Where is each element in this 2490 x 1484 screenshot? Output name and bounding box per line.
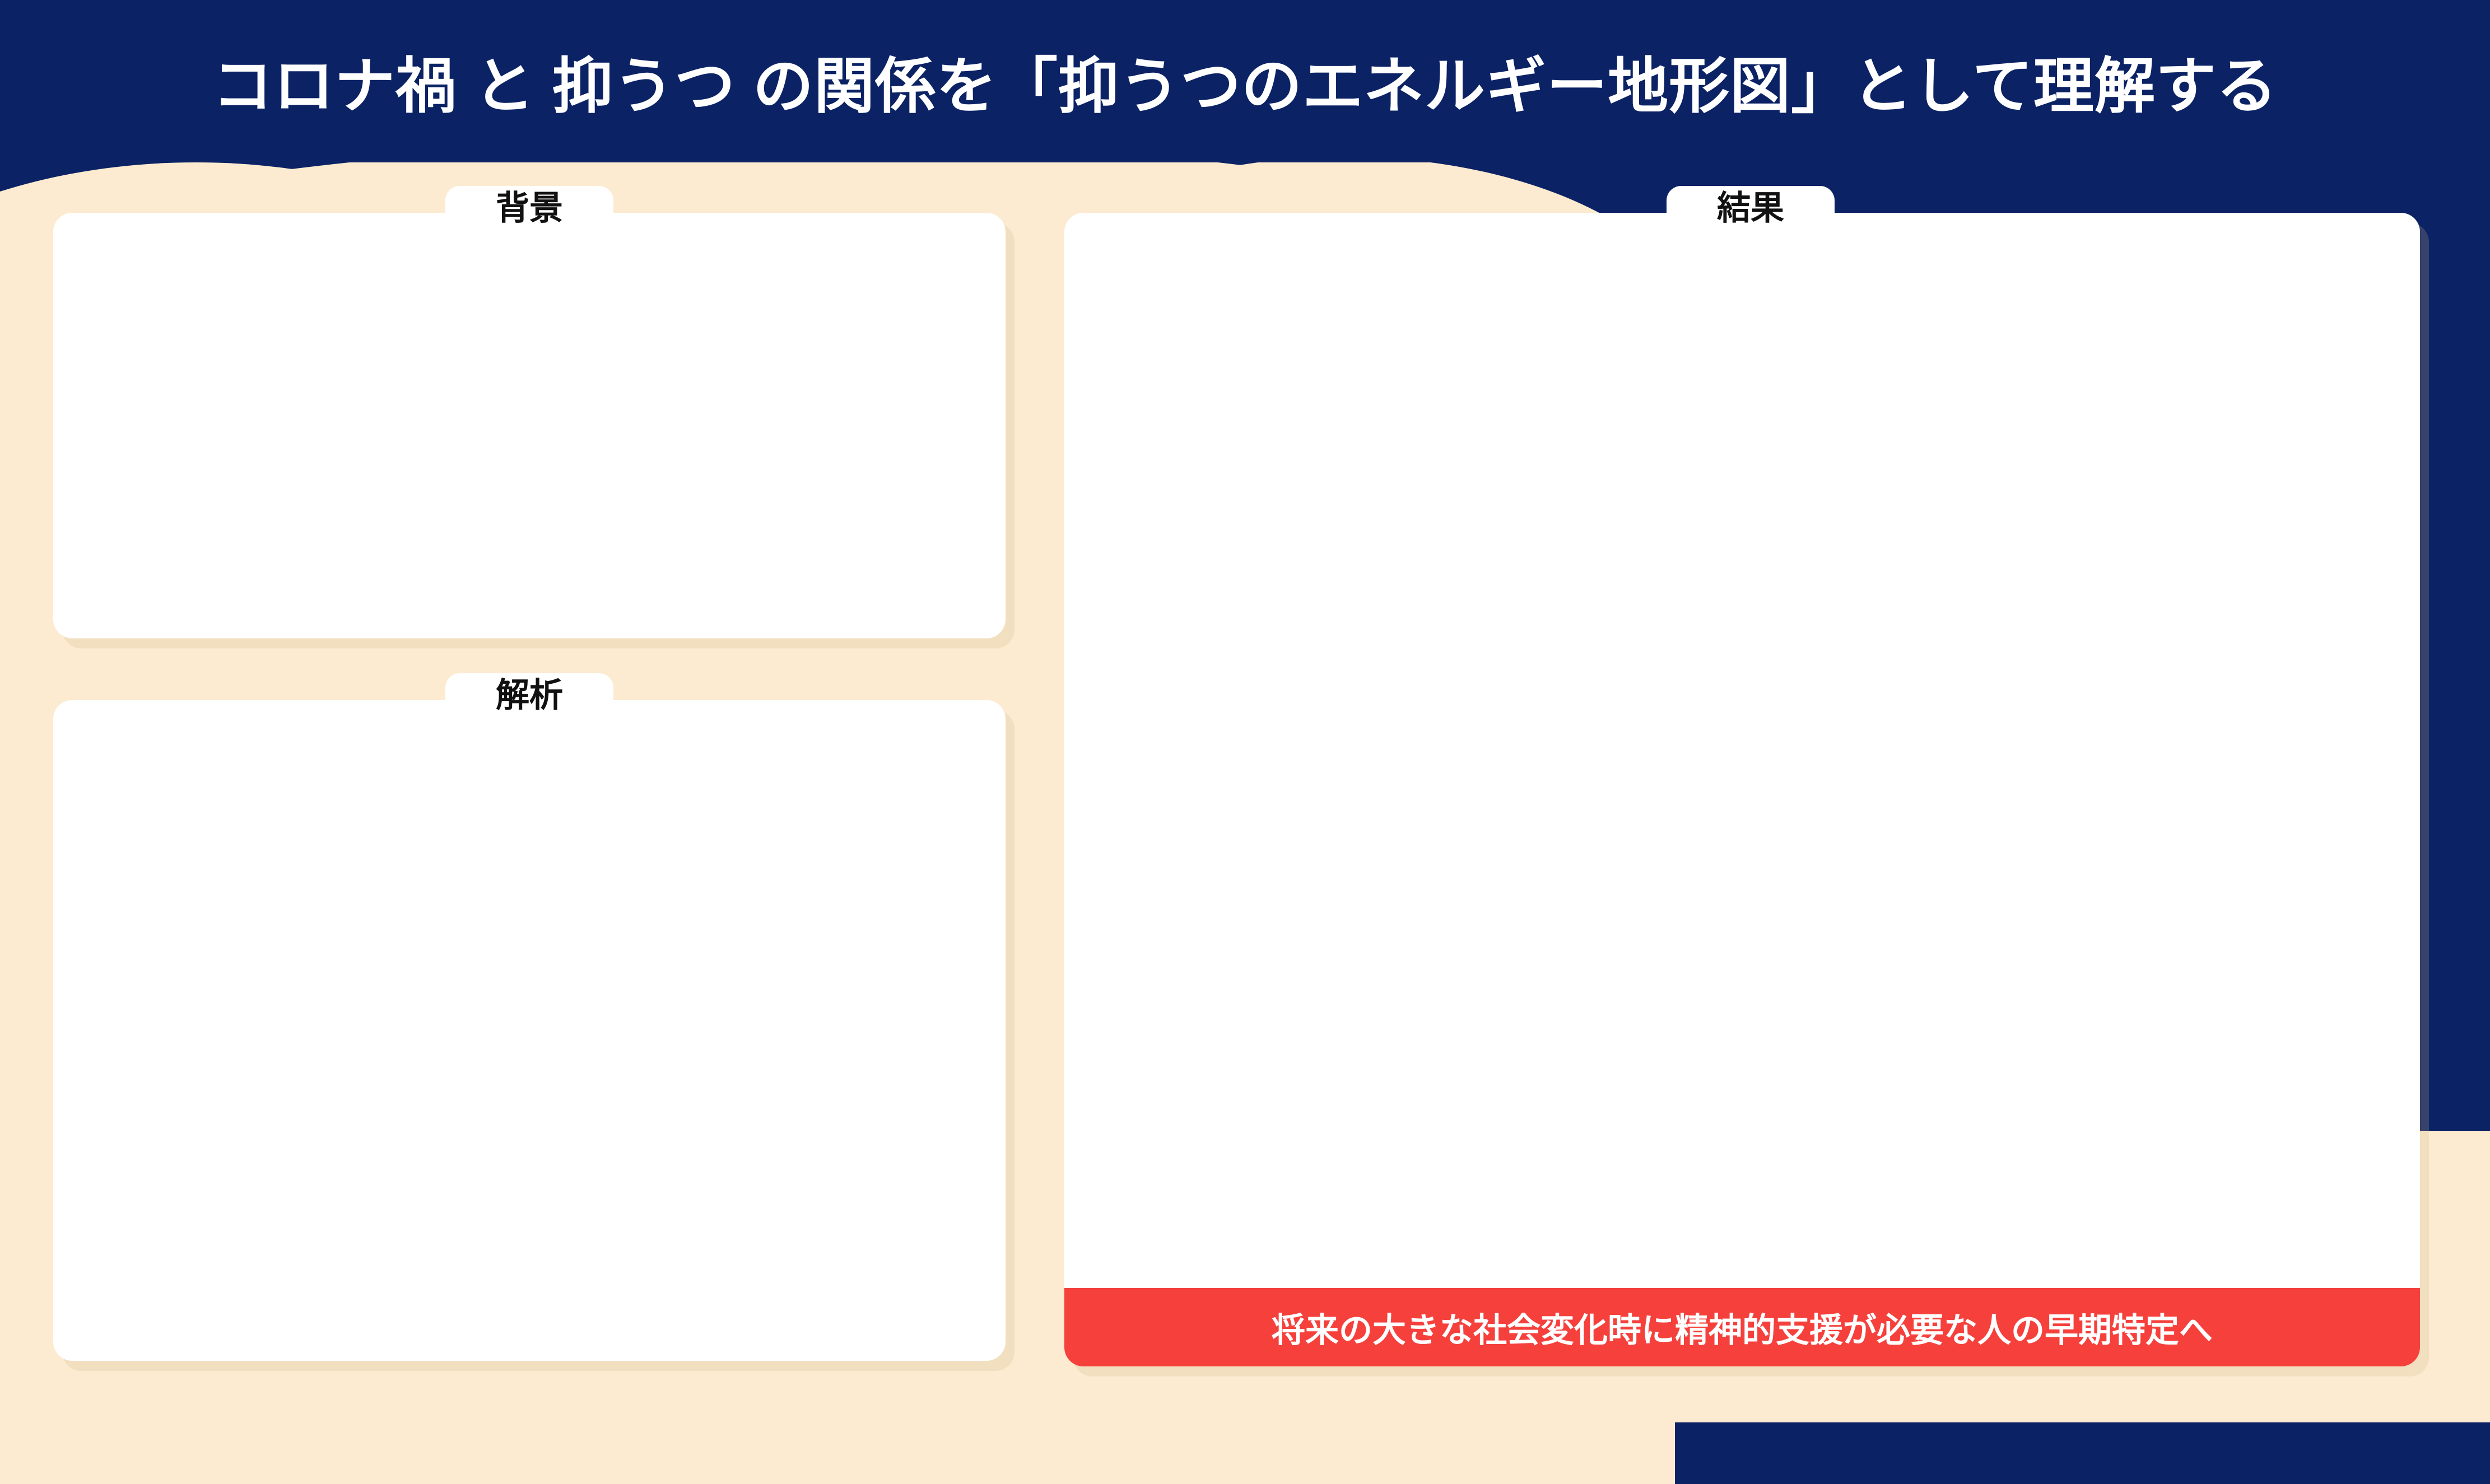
tab-result-label: 結果 [1717,181,1784,230]
tab-analysis[interactable]: 解析 [445,673,613,716]
bottom-banner: 将来の大きな社会変化時に精神的支援が必要な人の早期特定へ [1064,1288,2420,1366]
tab-background-label: 背景 [496,181,563,230]
tab-result[interactable]: 結果 [1667,186,1835,228]
page-header: コロナ禍 と 抑うつ の関係を「抑うつのエネルギー地形図」として理解する [0,0,2490,162]
infographic-root: コロナ禍 と 抑うつ の関係を「抑うつのエネルギー地形図」として理解する 背景 … [0,0,2490,1400]
analysis-card [53,700,1006,1361]
bottom-banner-text: 将来の大きな社会変化時に精神的支援が必要な人の早期特定へ [1272,1303,2213,1352]
tab-analysis-label: 解析 [496,668,563,717]
result-card [1064,213,2420,1366]
page-title: コロナ禍 と 抑うつ の関係を「抑うつのエネルギー地形図」として理解する [212,38,2278,125]
tab-background[interactable]: 背景 [445,186,613,228]
background-card [53,213,1006,638]
